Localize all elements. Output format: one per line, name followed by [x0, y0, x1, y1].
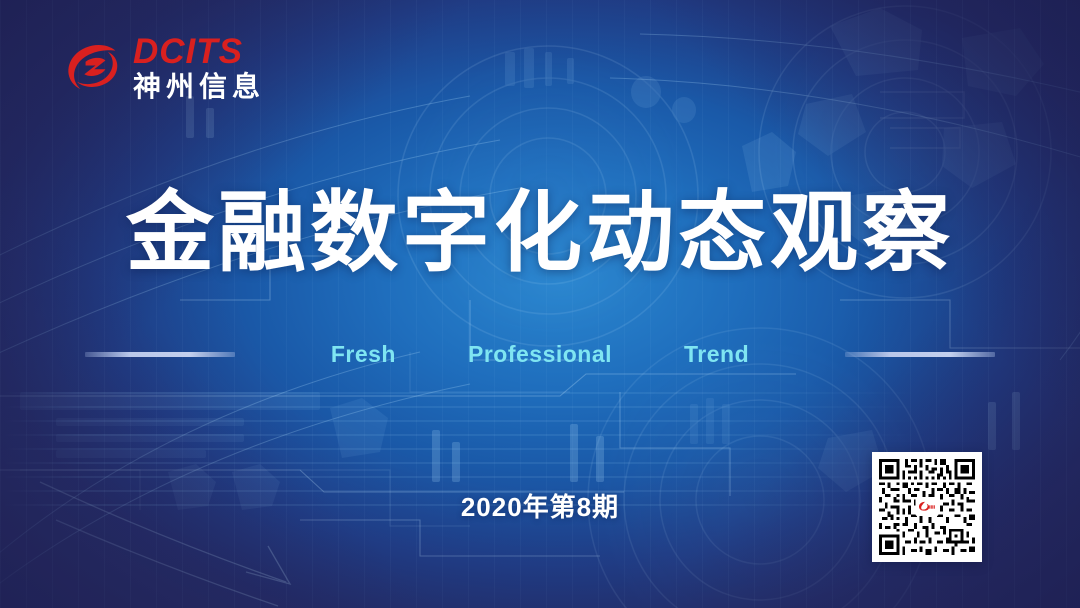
keyword-row: Fresh Professional Trend — [0, 339, 1080, 369]
dcits-logo-icon — [918, 500, 937, 514]
poster-canvas: DCITS 神州信息 金融数字化动态观察 Fresh Professional … — [0, 0, 1080, 608]
rule-right — [845, 352, 995, 357]
brand-logo: DCITS 神州信息 — [62, 34, 265, 101]
dcits-swirl-logo-icon — [62, 37, 124, 99]
rule-left — [85, 352, 235, 357]
qr-code[interactable] — [872, 452, 982, 562]
qr-canvas — [879, 459, 975, 555]
qr-center-logo — [916, 498, 939, 516]
page-title: 金融数字化动态观察 — [0, 186, 1080, 279]
brand-name-en: DCITS — [133, 34, 265, 69]
brand-name-cn: 神州信息 — [133, 73, 265, 101]
keyword-fresh: Fresh — [295, 341, 432, 368]
keyword-trend: Trend — [648, 341, 785, 368]
keyword-professional: Professional — [432, 341, 648, 368]
